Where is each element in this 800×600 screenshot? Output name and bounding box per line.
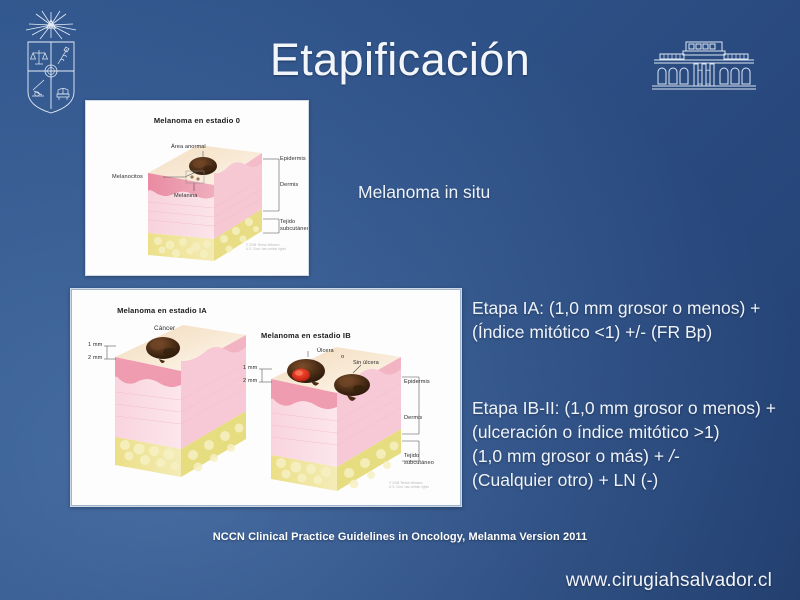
figure-stage-0-label-dermis: Dermis (280, 182, 298, 188)
figure-stage-0-copyright: © 2008 Terese WinslowU.S. Govt. has cert… (246, 243, 286, 252)
text-melanoma-in-situ: Melanoma in situ (358, 180, 688, 204)
figure-stage-0: Melanoma en estadio 0 (85, 100, 309, 276)
source-citation: NCCN Clinical Practice Guidelines in Onc… (0, 531, 800, 543)
figure-stage-ib-label-subcutaneous-2: subcutáneo (404, 460, 434, 466)
figure-stage-ib-copyright: © 2008 Terese WinslowU.S. Govt. has cert… (389, 481, 429, 490)
universidad-de-chile-logo-icon (20, 8, 82, 116)
figure-stage-ia-label-depth1: 1 mm (88, 342, 102, 348)
figure-stage-0-label-subcutaneous: Tejidosubcutáneo (280, 219, 306, 233)
text-stage-ib-ii-line1: Etapa IB-II: (1,0 mm grosor o menos) + (… (472, 396, 794, 444)
figure-stage-ib-label-epidermis: Epidermis (404, 379, 430, 385)
text-stage-ib-ii: Etapa IB-II: (1,0 mm grosor o menos) + (… (472, 396, 794, 492)
figure-stage-0-label-melanin: Melanina (174, 193, 198, 199)
figure-stage-0-label-area: Área anormal (171, 144, 206, 150)
presentation-slide: Etapificación Melanoma en estadio 0 (0, 0, 800, 600)
text-stage-ib-ii-line2: (1,0 mm grosor o más) + /- (472, 444, 794, 468)
hospital-building-icon (648, 38, 760, 96)
website-url: www.cirugiahsalvador.cl (566, 570, 772, 592)
text-stage-ib-ii-line3: (Cualquier otro) + LN (-) (472, 468, 794, 492)
figure-stage-ib-label-subcutaneous-1: Tejido (404, 453, 419, 459)
text-stage-ia: Etapa IA: (1,0 mm grosor o menos) + (Índ… (472, 296, 794, 344)
figure-stage-ib-label-ulcer: Úlcera (317, 348, 334, 354)
figure-stage-ib-label-depth1: 1 mm (243, 365, 257, 371)
figure-stage-0-label-epidermis: Epidermis (280, 156, 306, 162)
slide-title: Etapificación (150, 34, 650, 86)
skin-cross-section-stage-ia-ib (71, 289, 461, 506)
figure-stage-ib-label-or: o (341, 354, 344, 360)
figure-stage-0-label-melanocytes: Melanocitos (112, 174, 143, 180)
figure-stage-ib-label-depth2: 2 mm (243, 378, 257, 384)
figure-stage-ia-ib: Melanoma en estadio IA Melanoma en estad… (70, 288, 462, 507)
figure-stage-ia-label-depth2: 2 mm (88, 355, 102, 361)
text-stage-ib-ii-line2-italic: /- (669, 446, 680, 466)
text-stage-ib-ii-line2-pre: (1,0 mm grosor o más) + (472, 446, 669, 466)
figure-stage-ib-label-dermis: Dermis (404, 415, 422, 421)
figure-stage-ib-label-no-ulcer: Sin úlcera (353, 360, 379, 366)
figure-stage-ia-label-cancer: Cáncer (154, 325, 175, 332)
